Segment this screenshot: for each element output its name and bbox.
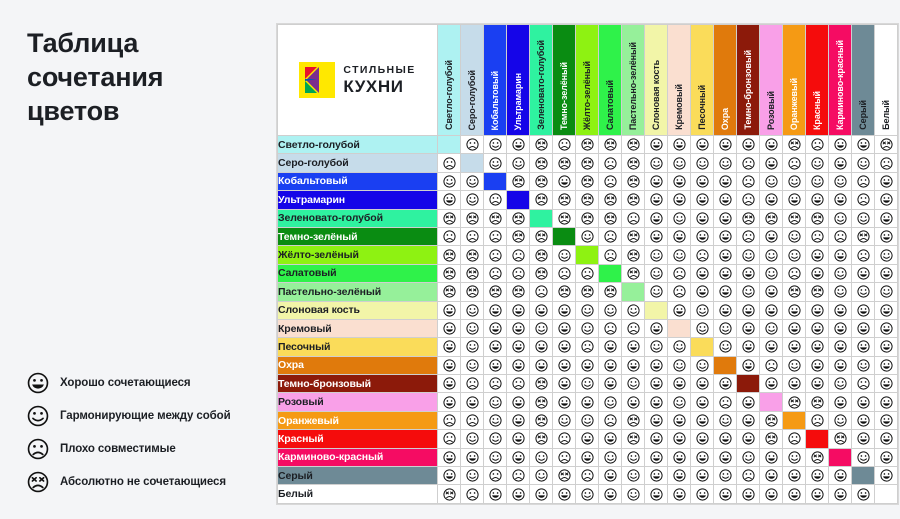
matrix-cell[interactable]	[507, 338, 530, 356]
matrix-cell[interactable]	[852, 246, 875, 264]
matrix-cell[interactable]	[507, 301, 530, 319]
matrix-cell[interactable]	[576, 356, 599, 374]
matrix-cell[interactable]	[622, 191, 645, 209]
column-header-4[interactable]: Зеленовато-голубой	[530, 25, 553, 136]
matrix-cell[interactable]	[806, 191, 829, 209]
matrix-cell[interactable]	[576, 411, 599, 429]
matrix-cell[interactable]	[599, 136, 622, 154]
matrix-cell[interactable]	[668, 264, 691, 282]
matrix-cell[interactable]	[875, 301, 898, 319]
matrix-cell[interactable]	[691, 411, 714, 429]
matrix-cell[interactable]	[438, 375, 461, 393]
matrix-cell[interactable]	[530, 191, 553, 209]
matrix-cell[interactable]	[783, 283, 806, 301]
matrix-cell[interactable]	[530, 227, 553, 245]
row-header-12[interactable]: Охра	[278, 356, 438, 374]
matrix-cell[interactable]	[622, 209, 645, 227]
row-header-1[interactable]: Серо-голубой	[278, 154, 438, 172]
matrix-cell[interactable]	[507, 264, 530, 282]
matrix-cell[interactable]	[484, 227, 507, 245]
matrix-cell[interactable]	[737, 319, 760, 337]
matrix-cell[interactable]	[461, 448, 484, 466]
matrix-cell[interactable]	[691, 154, 714, 172]
column-header-1[interactable]: Серо-голубой	[461, 25, 484, 136]
matrix-cell[interactable]	[760, 154, 783, 172]
matrix-cell[interactable]	[691, 430, 714, 448]
matrix-cell[interactable]	[875, 375, 898, 393]
matrix-cell[interactable]	[461, 191, 484, 209]
row-header-8[interactable]: Пастельно-зелёный	[278, 283, 438, 301]
matrix-cell[interactable]	[760, 338, 783, 356]
matrix-cell[interactable]	[806, 448, 829, 466]
matrix-cell-self[interactable]	[875, 485, 898, 503]
matrix-cell-self[interactable]	[829, 448, 852, 466]
matrix-cell[interactable]	[783, 485, 806, 503]
matrix-cell[interactable]	[507, 283, 530, 301]
matrix-cell[interactable]	[668, 430, 691, 448]
matrix-cell[interactable]	[622, 448, 645, 466]
matrix-cell[interactable]	[668, 154, 691, 172]
matrix-cell[interactable]	[507, 430, 530, 448]
matrix-cell[interactable]	[875, 172, 898, 190]
matrix-cell[interactable]	[714, 246, 737, 264]
matrix-cell[interactable]	[553, 209, 576, 227]
matrix-cell-self[interactable]	[622, 283, 645, 301]
matrix-cell[interactable]	[852, 375, 875, 393]
matrix-cell[interactable]	[714, 467, 737, 485]
matrix-cell[interactable]	[852, 393, 875, 411]
matrix-cell[interactable]	[737, 356, 760, 374]
column-header-14[interactable]: Розовый	[760, 25, 783, 136]
matrix-cell[interactable]	[438, 393, 461, 411]
matrix-cell[interactable]	[461, 319, 484, 337]
matrix-cell[interactable]	[622, 411, 645, 429]
matrix-cell[interactable]	[875, 136, 898, 154]
matrix-cell[interactable]	[737, 283, 760, 301]
matrix-cell[interactable]	[760, 172, 783, 190]
matrix-cell[interactable]	[645, 172, 668, 190]
matrix-cell[interactable]	[438, 430, 461, 448]
matrix-cell[interactable]	[530, 448, 553, 466]
row-header-0[interactable]: Светло-голубой	[278, 136, 438, 154]
matrix-cell[interactable]	[438, 172, 461, 190]
matrix-cell[interactable]	[461, 430, 484, 448]
matrix-cell-self[interactable]	[760, 393, 783, 411]
matrix-cell[interactable]	[576, 375, 599, 393]
matrix-cell[interactable]	[530, 154, 553, 172]
matrix-cell[interactable]	[760, 227, 783, 245]
matrix-cell-self[interactable]	[714, 356, 737, 374]
matrix-cell[interactable]	[599, 191, 622, 209]
matrix-cell[interactable]	[714, 430, 737, 448]
matrix-cell[interactable]	[645, 227, 668, 245]
matrix-cell[interactable]	[783, 209, 806, 227]
matrix-cell[interactable]	[645, 283, 668, 301]
matrix-cell-self[interactable]	[438, 136, 461, 154]
matrix-cell[interactable]	[691, 485, 714, 503]
matrix-cell[interactable]	[875, 209, 898, 227]
matrix-cell[interactable]	[806, 227, 829, 245]
matrix-cell[interactable]	[829, 393, 852, 411]
matrix-cell[interactable]	[691, 283, 714, 301]
matrix-cell[interactable]	[576, 393, 599, 411]
matrix-cell-self[interactable]	[461, 154, 484, 172]
matrix-cell[interactable]	[599, 319, 622, 337]
matrix-cell[interactable]	[438, 264, 461, 282]
matrix-cell[interactable]	[737, 338, 760, 356]
matrix-cell[interactable]	[484, 154, 507, 172]
row-header-4[interactable]: Зеленовато-голубой	[278, 209, 438, 227]
matrix-cell[interactable]	[852, 209, 875, 227]
matrix-cell[interactable]	[438, 467, 461, 485]
matrix-cell[interactable]	[691, 375, 714, 393]
matrix-cell-self[interactable]	[852, 467, 875, 485]
matrix-cell[interactable]	[599, 467, 622, 485]
matrix-cell[interactable]	[553, 319, 576, 337]
matrix-cell[interactable]	[507, 375, 530, 393]
matrix-cell[interactable]	[599, 356, 622, 374]
matrix-cell-self[interactable]	[507, 191, 530, 209]
matrix-cell[interactable]	[622, 319, 645, 337]
matrix-cell[interactable]	[438, 319, 461, 337]
matrix-cell[interactable]	[714, 209, 737, 227]
matrix-cell[interactable]	[829, 283, 852, 301]
matrix-cell[interactable]	[668, 227, 691, 245]
matrix-cell[interactable]	[553, 375, 576, 393]
matrix-cell[interactable]	[438, 227, 461, 245]
column-header-7[interactable]: Салатовый	[599, 25, 622, 136]
matrix-cell[interactable]	[530, 264, 553, 282]
matrix-cell[interactable]	[875, 448, 898, 466]
matrix-cell[interactable]	[553, 301, 576, 319]
matrix-cell[interactable]	[484, 319, 507, 337]
matrix-cell[interactable]	[783, 172, 806, 190]
matrix-cell[interactable]	[829, 319, 852, 337]
matrix-cell[interactable]	[484, 136, 507, 154]
matrix-cell[interactable]	[875, 467, 898, 485]
matrix-cell[interactable]	[852, 227, 875, 245]
matrix-cell[interactable]	[806, 172, 829, 190]
matrix-cell[interactable]	[714, 227, 737, 245]
matrix-cell[interactable]	[530, 430, 553, 448]
matrix-cell[interactable]	[530, 467, 553, 485]
matrix-cell[interactable]	[599, 246, 622, 264]
matrix-cell[interactable]	[783, 375, 806, 393]
matrix-cell[interactable]	[622, 264, 645, 282]
matrix-cell[interactable]	[691, 136, 714, 154]
matrix-cell[interactable]	[461, 338, 484, 356]
matrix-cell[interactable]	[576, 301, 599, 319]
matrix-cell[interactable]	[691, 246, 714, 264]
matrix-cell[interactable]	[852, 430, 875, 448]
matrix-cell[interactable]	[806, 375, 829, 393]
matrix-cell[interactable]	[507, 172, 530, 190]
matrix-cell[interactable]	[530, 301, 553, 319]
row-header-14[interactable]: Розовый	[278, 393, 438, 411]
matrix-cell[interactable]	[714, 375, 737, 393]
matrix-cell[interactable]	[691, 227, 714, 245]
matrix-cell[interactable]	[576, 154, 599, 172]
matrix-cell[interactable]	[576, 136, 599, 154]
matrix-cell[interactable]	[737, 448, 760, 466]
matrix-cell[interactable]	[461, 246, 484, 264]
matrix-cell[interactable]	[599, 227, 622, 245]
matrix-cell[interactable]	[645, 430, 668, 448]
column-header-18[interactable]: Серый	[852, 25, 875, 136]
matrix-cell[interactable]	[737, 209, 760, 227]
matrix-cell-self[interactable]	[645, 301, 668, 319]
matrix-cell[interactable]	[507, 136, 530, 154]
matrix-cell[interactable]	[622, 338, 645, 356]
matrix-cell[interactable]	[645, 485, 668, 503]
matrix-cell[interactable]	[461, 136, 484, 154]
matrix-cell[interactable]	[484, 191, 507, 209]
matrix-cell[interactable]	[668, 375, 691, 393]
matrix-cell[interactable]	[783, 430, 806, 448]
matrix-cell[interactable]	[484, 209, 507, 227]
matrix-cell[interactable]	[829, 154, 852, 172]
matrix-cell[interactable]	[806, 319, 829, 337]
matrix-cell[interactable]	[668, 172, 691, 190]
matrix-cell[interactable]	[484, 264, 507, 282]
matrix-cell[interactable]	[484, 411, 507, 429]
matrix-cell[interactable]	[668, 301, 691, 319]
matrix-cell[interactable]	[783, 448, 806, 466]
matrix-cell[interactable]	[622, 430, 645, 448]
matrix-cell[interactable]	[576, 448, 599, 466]
column-header-19[interactable]: Белый	[875, 25, 898, 136]
column-header-6[interactable]: Жёлто-зелёный	[576, 25, 599, 136]
matrix-cell[interactable]	[645, 375, 668, 393]
matrix-cell[interactable]	[507, 467, 530, 485]
matrix-cell[interactable]	[691, 448, 714, 466]
matrix-cell[interactable]	[599, 283, 622, 301]
column-header-5[interactable]: Темно-зелёный	[553, 25, 576, 136]
matrix-cell[interactable]	[599, 209, 622, 227]
matrix-cell[interactable]	[576, 191, 599, 209]
matrix-cell[interactable]	[530, 485, 553, 503]
matrix-cell[interactable]	[530, 319, 553, 337]
row-header-9[interactable]: Слоновая кость	[278, 301, 438, 319]
matrix-cell[interactable]	[576, 172, 599, 190]
matrix-cell[interactable]	[438, 411, 461, 429]
matrix-cell[interactable]	[530, 172, 553, 190]
matrix-cell[interactable]	[461, 301, 484, 319]
matrix-cell[interactable]	[645, 338, 668, 356]
matrix-cell[interactable]	[852, 172, 875, 190]
row-header-15[interactable]: Оранжевый	[278, 411, 438, 429]
matrix-cell-self[interactable]	[806, 430, 829, 448]
row-header-7[interactable]: Салатовый	[278, 264, 438, 282]
matrix-cell[interactable]	[622, 301, 645, 319]
matrix-cell[interactable]	[691, 319, 714, 337]
matrix-cell[interactable]	[829, 264, 852, 282]
matrix-cell[interactable]	[829, 338, 852, 356]
matrix-cell[interactable]	[760, 430, 783, 448]
matrix-cell[interactable]	[875, 430, 898, 448]
matrix-cell[interactable]	[484, 393, 507, 411]
matrix-cell[interactable]	[576, 319, 599, 337]
matrix-cell[interactable]	[507, 209, 530, 227]
matrix-cell[interactable]	[691, 301, 714, 319]
matrix-cell[interactable]	[484, 246, 507, 264]
column-header-16[interactable]: Красный	[806, 25, 829, 136]
matrix-cell[interactable]	[668, 467, 691, 485]
matrix-cell[interactable]	[829, 485, 852, 503]
row-header-17[interactable]: Карминово-красный	[278, 448, 438, 466]
matrix-cell[interactable]	[691, 356, 714, 374]
matrix-cell[interactable]	[760, 485, 783, 503]
matrix-cell[interactable]	[852, 448, 875, 466]
row-header-2[interactable]: Кобальтовый	[278, 172, 438, 190]
matrix-cell[interactable]	[875, 227, 898, 245]
matrix-cell[interactable]	[507, 356, 530, 374]
matrix-cell[interactable]	[461, 485, 484, 503]
matrix-cell-self[interactable]	[668, 319, 691, 337]
matrix-cell[interactable]	[737, 191, 760, 209]
matrix-cell[interactable]	[875, 393, 898, 411]
matrix-cell[interactable]	[484, 283, 507, 301]
matrix-cell[interactable]	[691, 393, 714, 411]
matrix-cell[interactable]	[760, 264, 783, 282]
matrix-cell[interactable]	[507, 393, 530, 411]
matrix-cell[interactable]	[714, 283, 737, 301]
column-header-17[interactable]: Карминово-красный	[829, 25, 852, 136]
matrix-cell[interactable]	[553, 246, 576, 264]
matrix-cell[interactable]	[737, 411, 760, 429]
matrix-cell[interactable]	[553, 393, 576, 411]
row-header-13[interactable]: Темно-бронзовый	[278, 375, 438, 393]
matrix-cell[interactable]	[760, 283, 783, 301]
matrix-cell[interactable]	[668, 338, 691, 356]
row-header-11[interactable]: Песочный	[278, 338, 438, 356]
matrix-cell[interactable]	[691, 264, 714, 282]
matrix-cell[interactable]	[668, 191, 691, 209]
matrix-cell[interactable]	[530, 338, 553, 356]
matrix-cell[interactable]	[576, 283, 599, 301]
matrix-cell[interactable]	[438, 356, 461, 374]
matrix-cell[interactable]	[576, 430, 599, 448]
matrix-cell[interactable]	[645, 191, 668, 209]
matrix-cell[interactable]	[484, 301, 507, 319]
matrix-cell[interactable]	[438, 283, 461, 301]
matrix-cell[interactable]	[461, 172, 484, 190]
matrix-cell[interactable]	[530, 375, 553, 393]
matrix-cell[interactable]	[714, 338, 737, 356]
row-header-16[interactable]: Красный	[278, 430, 438, 448]
matrix-cell[interactable]	[438, 191, 461, 209]
matrix-cell[interactable]	[668, 485, 691, 503]
matrix-cell[interactable]	[599, 154, 622, 172]
matrix-cell[interactable]	[714, 191, 737, 209]
matrix-cell[interactable]	[714, 136, 737, 154]
matrix-cell[interactable]	[507, 448, 530, 466]
matrix-cell[interactable]	[875, 356, 898, 374]
matrix-cell[interactable]	[714, 319, 737, 337]
matrix-cell[interactable]	[737, 467, 760, 485]
column-header-3[interactable]: Ультрамарин	[507, 25, 530, 136]
matrix-cell[interactable]	[461, 283, 484, 301]
matrix-cell[interactable]	[737, 136, 760, 154]
matrix-cell[interactable]	[737, 227, 760, 245]
matrix-cell[interactable]	[530, 246, 553, 264]
matrix-cell[interactable]	[438, 301, 461, 319]
matrix-cell[interactable]	[829, 172, 852, 190]
matrix-cell[interactable]	[714, 154, 737, 172]
matrix-cell[interactable]	[484, 375, 507, 393]
matrix-cell[interactable]	[668, 209, 691, 227]
matrix-cell[interactable]	[645, 448, 668, 466]
matrix-cell[interactable]	[737, 154, 760, 172]
matrix-cell[interactable]	[829, 209, 852, 227]
matrix-cell[interactable]	[852, 485, 875, 503]
matrix-cell[interactable]	[829, 467, 852, 485]
matrix-cell[interactable]	[737, 301, 760, 319]
matrix-cell[interactable]	[806, 154, 829, 172]
matrix-cell[interactable]	[806, 485, 829, 503]
matrix-cell[interactable]	[806, 246, 829, 264]
matrix-cell[interactable]	[461, 467, 484, 485]
matrix-cell[interactable]	[599, 448, 622, 466]
matrix-cell[interactable]	[783, 356, 806, 374]
matrix-cell[interactable]	[599, 393, 622, 411]
matrix-cell[interactable]	[829, 227, 852, 245]
matrix-cell[interactable]	[737, 393, 760, 411]
matrix-cell[interactable]	[461, 393, 484, 411]
matrix-cell[interactable]	[668, 356, 691, 374]
matrix-cell[interactable]	[714, 411, 737, 429]
matrix-cell[interactable]	[806, 283, 829, 301]
matrix-cell[interactable]	[714, 485, 737, 503]
matrix-cell-self[interactable]	[691, 338, 714, 356]
matrix-cell[interactable]	[576, 467, 599, 485]
matrix-cell[interactable]	[829, 246, 852, 264]
matrix-cell[interactable]	[530, 411, 553, 429]
matrix-cell[interactable]	[553, 136, 576, 154]
matrix-cell[interactable]	[806, 301, 829, 319]
matrix-cell[interactable]	[783, 301, 806, 319]
matrix-cell[interactable]	[829, 375, 852, 393]
matrix-cell[interactable]	[553, 467, 576, 485]
matrix-cell[interactable]	[852, 338, 875, 356]
matrix-cell[interactable]	[760, 319, 783, 337]
matrix-cell[interactable]	[438, 338, 461, 356]
matrix-cell[interactable]	[806, 393, 829, 411]
column-header-13[interactable]: Темно-бронзовый	[737, 25, 760, 136]
column-header-9[interactable]: Слоновая кость	[645, 25, 668, 136]
matrix-cell[interactable]	[622, 375, 645, 393]
matrix-cell[interactable]	[806, 209, 829, 227]
matrix-cell-self[interactable]	[576, 246, 599, 264]
matrix-cell[interactable]	[783, 264, 806, 282]
matrix-cell-self[interactable]	[599, 264, 622, 282]
column-header-0[interactable]: Светло-голубой	[438, 25, 461, 136]
matrix-cell[interactable]	[806, 136, 829, 154]
matrix-cell[interactable]	[691, 172, 714, 190]
matrix-cell[interactable]	[461, 375, 484, 393]
matrix-cell[interactable]	[852, 283, 875, 301]
matrix-cell[interactable]	[760, 467, 783, 485]
column-header-11[interactable]: Песочный	[691, 25, 714, 136]
matrix-cell[interactable]	[760, 191, 783, 209]
matrix-cell[interactable]	[599, 301, 622, 319]
matrix-cell[interactable]	[737, 264, 760, 282]
matrix-cell[interactable]	[461, 209, 484, 227]
matrix-cell[interactable]	[645, 356, 668, 374]
matrix-cell[interactable]	[875, 319, 898, 337]
matrix-cell[interactable]	[852, 136, 875, 154]
matrix-cell[interactable]	[599, 430, 622, 448]
